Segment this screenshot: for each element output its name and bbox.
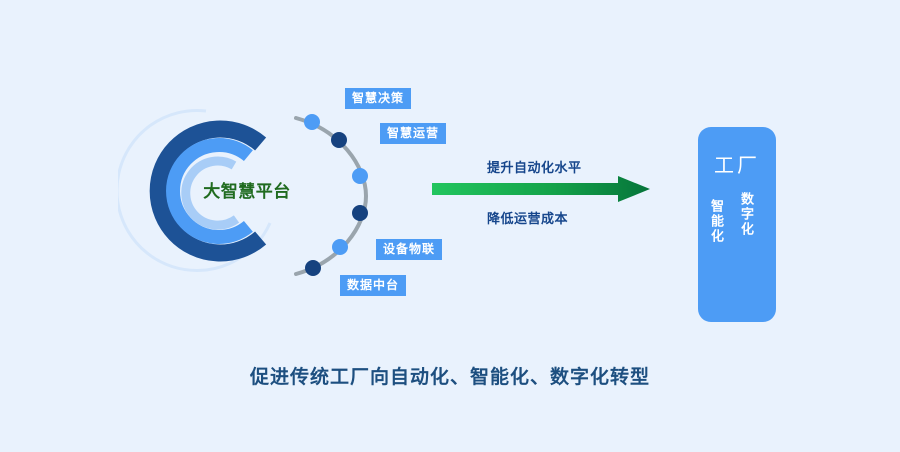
arrow-benefit-below: 降低运营成本: [487, 208, 568, 227]
capability-badge-device-iot[interactable]: 设备物联: [376, 239, 442, 260]
factory-attribute-intelligent: 智能化: [710, 199, 723, 244]
capability-badge-smart-operation[interactable]: 智慧运营: [380, 123, 446, 144]
factory-card[interactable]: 工厂 智能化 数字化: [698, 127, 776, 322]
arrow-benefit-above: 提升自动化水平: [487, 157, 582, 176]
arc-node: [305, 260, 321, 276]
arc-path: [296, 118, 366, 274]
capability-badge-data-midplatform[interactable]: 数据中台: [340, 275, 406, 296]
infographic-canvas: 大智慧平台 智慧决策 智慧运营 设备物联 数据中台 提升自动化水平: [0, 0, 900, 452]
arc-node: [332, 239, 348, 255]
arrow-shape: [432, 176, 650, 202]
factory-attribute-columns: 智能化 数字化: [698, 189, 776, 289]
factory-title: 工厂: [698, 149, 776, 178]
bottom-caption: 促进传统工厂向自动化、智能化、数字化转型: [0, 362, 900, 389]
arc-node: [352, 168, 368, 184]
transition-arrow: [432, 176, 650, 202]
capability-badge-smart-decision[interactable]: 智慧决策: [345, 88, 411, 109]
arc-node: [304, 114, 320, 130]
factory-attribute-digital: 数字化: [740, 192, 753, 237]
capability-node-arc: [288, 108, 388, 284]
arc-node: [352, 205, 368, 221]
arc-node: [331, 132, 347, 148]
